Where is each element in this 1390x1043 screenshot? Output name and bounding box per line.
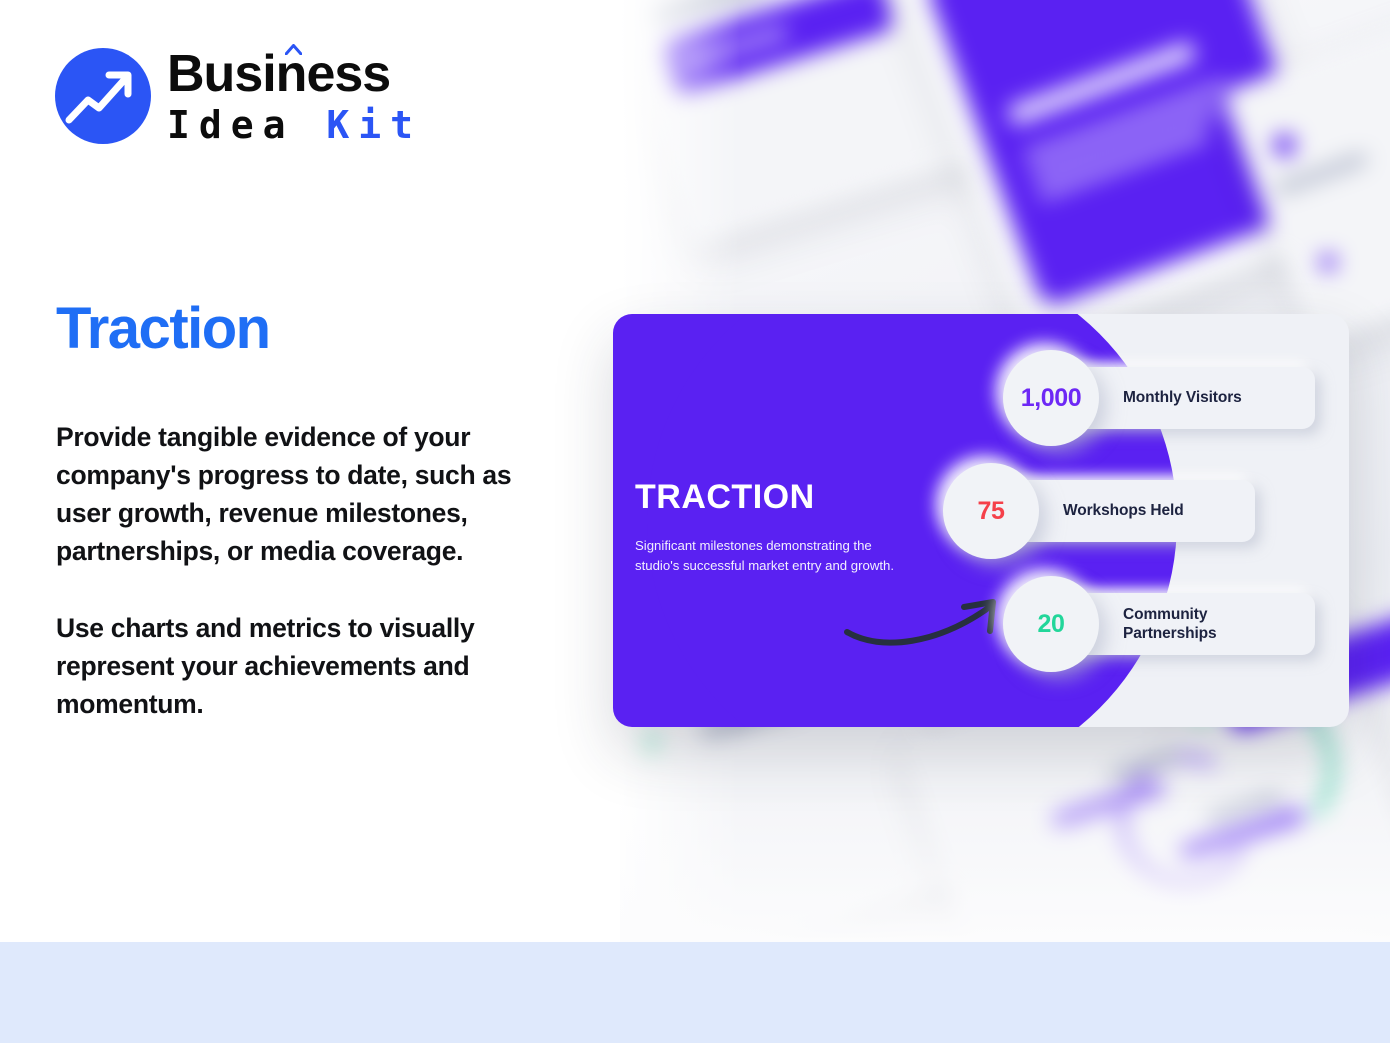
metric-value-circle: 1,000 [1003, 350, 1099, 446]
brand-name-kit: Kit [326, 103, 422, 147]
metric-value-circle: 75 [943, 463, 1039, 559]
slide-template-page: Business Idea Kit Traction Provide tangi… [0, 0, 1390, 1043]
photo-bottom-fade [620, 792, 1390, 942]
metric-value: 75 [977, 497, 1004, 526]
brand-name-line2: Idea Kit [167, 106, 422, 144]
slide-heading: TRACTION [635, 478, 815, 517]
body-copy: Provide tangible evidence of your compan… [56, 418, 566, 723]
metric-row[interactable]: Monthly Visitors 1,000 [1051, 367, 1315, 429]
brand-name-line1-text: Business [167, 45, 390, 103]
page-title: Traction [56, 295, 270, 362]
body-paragraph: Use charts and metrics to visually repre… [56, 609, 566, 723]
metric-value: 20 [1037, 610, 1064, 639]
metric-value-circle: 20 [1003, 576, 1099, 672]
footer-band [0, 942, 1390, 1043]
bg-bar [1007, 41, 1197, 126]
body-paragraph: Provide tangible evidence of your compan… [56, 418, 566, 571]
slide-subtitle: Significant milestones demonstrating the… [635, 536, 895, 577]
metric-label: Workshops Held [1063, 501, 1184, 520]
circumflex-accent-icon [285, 44, 302, 55]
metric-label: Community Partnerships [1123, 605, 1273, 643]
metric-row[interactable]: Workshops Held 75 [991, 480, 1255, 542]
growth-chart-circle-icon [55, 48, 151, 144]
bg-dot [1318, 252, 1339, 273]
bg-bar [1274, 151, 1369, 196]
metrics-list: Monthly Visitors 1,000 Workshops Held 75… [973, 314, 1349, 727]
brand-name-line1: Business [167, 48, 422, 100]
brand-wordmark: Business Idea Kit [167, 48, 422, 144]
brand-name-idea: Idea [167, 103, 326, 147]
traction-slide-preview[interactable]: TRACTION Significant milestones demonstr… [613, 314, 1349, 727]
metric-value: 1,000 [1021, 384, 1082, 413]
metric-label: Monthly Visitors [1123, 388, 1242, 407]
metric-row[interactable]: Community Partnerships 20 [1051, 593, 1315, 655]
left-content-column: Business Idea Kit Traction Provide tangi… [0, 0, 620, 942]
brand-logo: Business Idea Kit [55, 48, 422, 144]
bg-dot [1270, 131, 1298, 159]
